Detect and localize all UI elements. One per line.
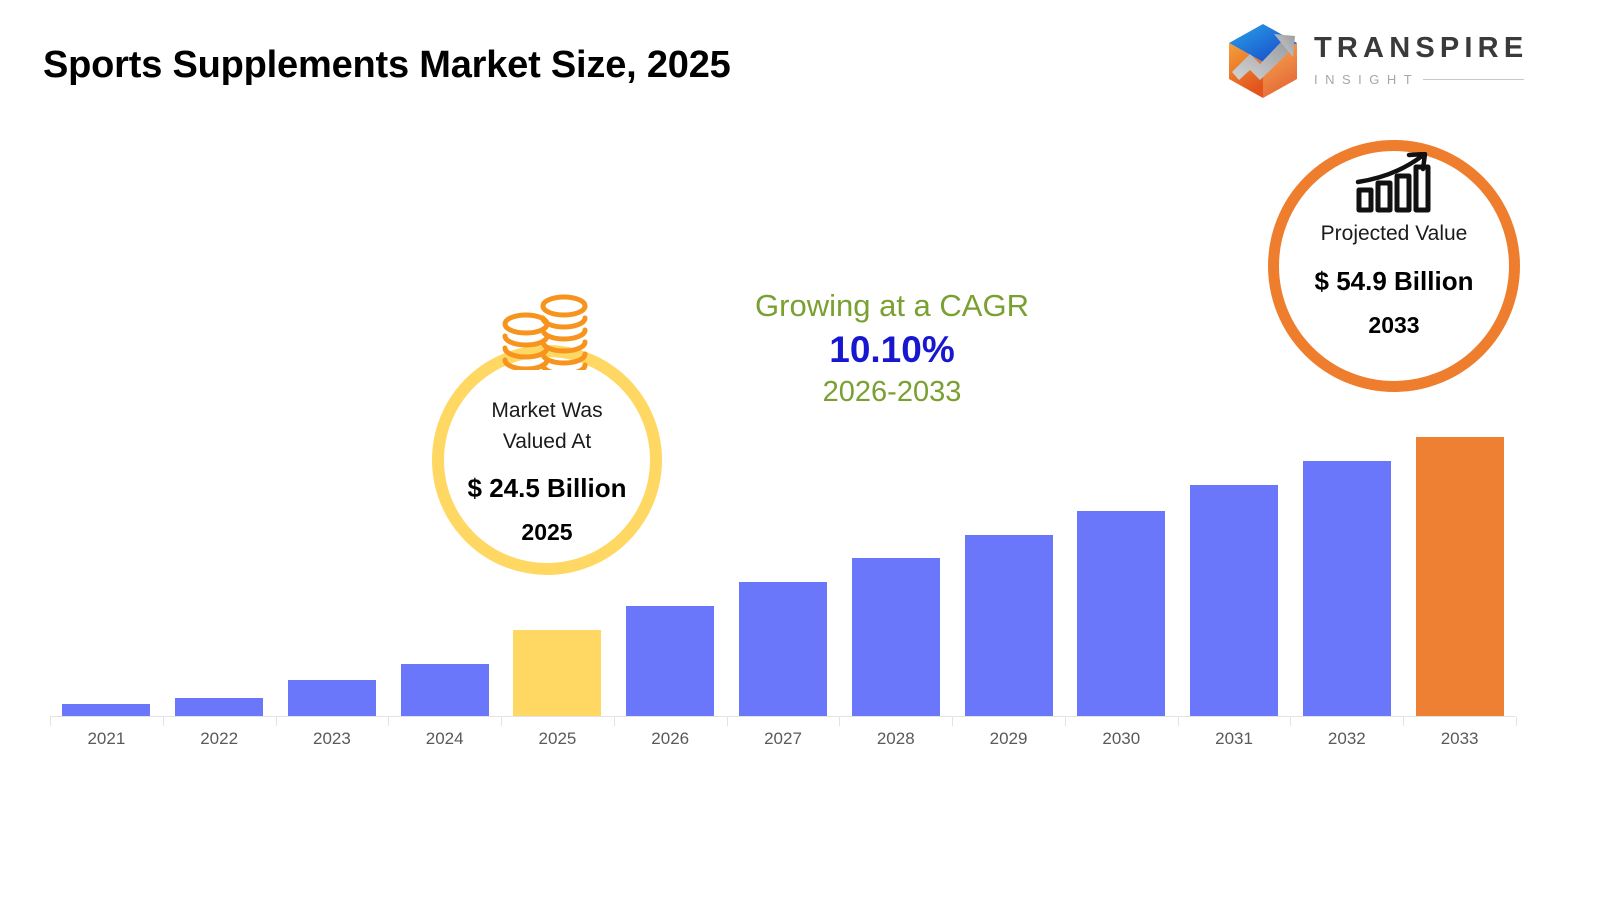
x-axis-tick-label: 2027 — [727, 729, 840, 749]
x-axis-tick — [614, 717, 615, 726]
chart-bar — [1077, 511, 1165, 716]
x-axis-tick-label: 2026 — [614, 729, 727, 749]
chart-bar — [1303, 461, 1391, 716]
chart-bar — [401, 664, 489, 716]
chart-bar — [288, 680, 376, 716]
x-axis-tick — [388, 717, 389, 726]
chart-bar — [513, 630, 601, 716]
x-axis-tick — [1403, 717, 1404, 726]
x-axis-tick-label: 2025 — [501, 729, 614, 749]
chart-bar — [62, 704, 150, 716]
current-badge-caption: Market Was Valued At — [491, 396, 602, 458]
x-axis-tick-label: 2021 — [50, 729, 163, 749]
chart-bar — [1190, 485, 1278, 716]
current-badge-year: 2025 — [521, 519, 572, 546]
chart-bar — [965, 535, 1053, 716]
x-axis-tick-label: 2030 — [1065, 729, 1178, 749]
coin-stack-icon — [498, 292, 590, 370]
chart-bar — [626, 606, 714, 716]
x-axis-tick — [50, 717, 51, 726]
chart-plot-area — [50, 379, 1516, 716]
x-axis-tick-label: 2031 — [1178, 729, 1291, 749]
current-badge-value: $ 24.5 Billion — [468, 473, 627, 504]
x-axis-tick — [952, 717, 953, 726]
x-axis-tick — [276, 717, 277, 726]
x-axis-tick — [1178, 717, 1179, 726]
x-axis-tick — [501, 717, 502, 726]
chart-bar — [852, 558, 940, 716]
projected-badge-value: $ 54.9 Billion — [1315, 266, 1474, 297]
x-axis-tick-label: 2024 — [388, 729, 501, 749]
current-badge-caption-line2: Valued At — [491, 427, 602, 458]
cagr-caption: Growing at a CAGR — [722, 288, 1062, 325]
x-axis-tick — [163, 717, 164, 726]
projected-badge-year: 2033 — [1368, 312, 1419, 339]
current-badge-content: Market Was Valued At $ 24.5 Billion 2025 — [468, 374, 627, 547]
x-axis-tick-label: 2023 — [275, 729, 388, 749]
projected-badge-caption: Projected Value — [1321, 219, 1468, 250]
projected-badge-content: Projected Value $ 54.9 Billion 2033 — [1315, 193, 1474, 339]
x-axis-tick — [727, 717, 728, 726]
chart-bar — [1416, 437, 1504, 716]
x-axis-tick-label: 2029 — [952, 729, 1065, 749]
x-axis-tick-label: 2028 — [839, 729, 952, 749]
cagr-value: 10.10% — [722, 327, 1062, 373]
x-axis-line — [50, 716, 1516, 717]
growth-bar-chart-arrow-icon — [1355, 152, 1435, 214]
x-axis-tick-label: 2022 — [163, 729, 276, 749]
cagr-period: 2026-2033 — [722, 375, 1062, 410]
current-value-badge: Market Was Valued At $ 24.5 Billion 2025 — [432, 345, 662, 575]
x-axis-tick — [1516, 717, 1517, 726]
chart-bar — [739, 582, 827, 716]
current-badge-caption-line1: Market Was — [491, 396, 602, 427]
x-axis-tick-label: 2033 — [1403, 729, 1516, 749]
x-axis-tick — [1065, 717, 1066, 726]
chart-bar — [175, 698, 263, 716]
x-axis-tick — [1290, 717, 1291, 726]
x-axis-tick-label: 2032 — [1290, 729, 1403, 749]
cagr-callout: Growing at a CAGR 10.10% 2026-2033 — [722, 288, 1062, 410]
x-axis-tick — [839, 717, 840, 726]
bar-chart: 2021202220232024202520262027202820292030… — [0, 0, 1600, 900]
